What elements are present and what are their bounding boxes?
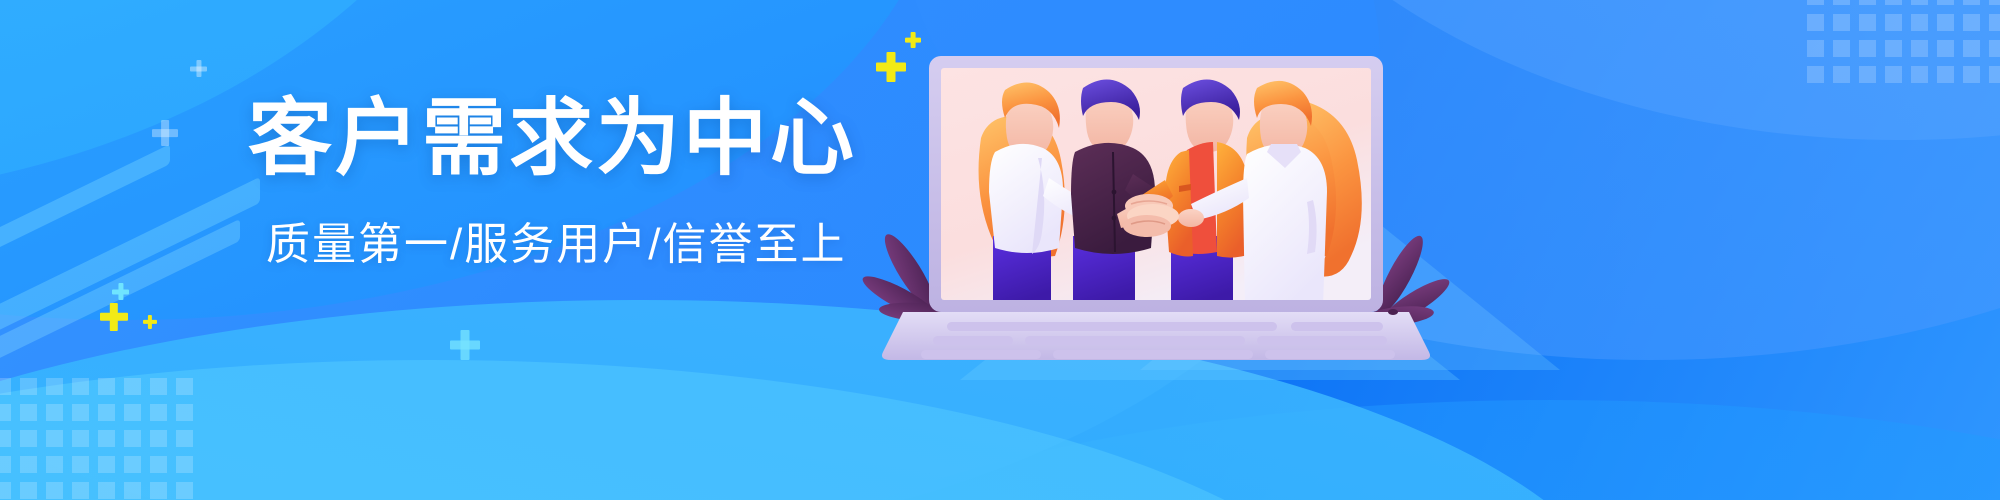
dot-grid-top-right [1807,0,2000,83]
plus-white-mid [152,120,178,146]
dot-grid-bottom-left [0,378,193,500]
plus-yellow-bottom-small [143,315,157,329]
plus-cyan-center [450,330,480,360]
laptop-trackpad-dot [1388,309,1398,315]
promotional-banner: 客户需求为中心 质量第一/服务用户/信誉至上 [0,0,2000,500]
plus-white-upper [190,60,207,77]
banner-headline: 客户需求为中心 [248,96,908,182]
banner-subheadline: 质量第一/服务用户/信誉至上 [266,208,908,272]
laptop-keyboard [921,322,1395,359]
plus-yellow-bottom [100,303,128,331]
background-wave-lower-right [700,400,2000,500]
laptop-team-illustration [895,40,1515,370]
banner-copy-block: 客户需求为中心 质量第一/服务用户/信誉至上 [248,96,908,272]
background-wave-lower-light [0,360,1380,500]
